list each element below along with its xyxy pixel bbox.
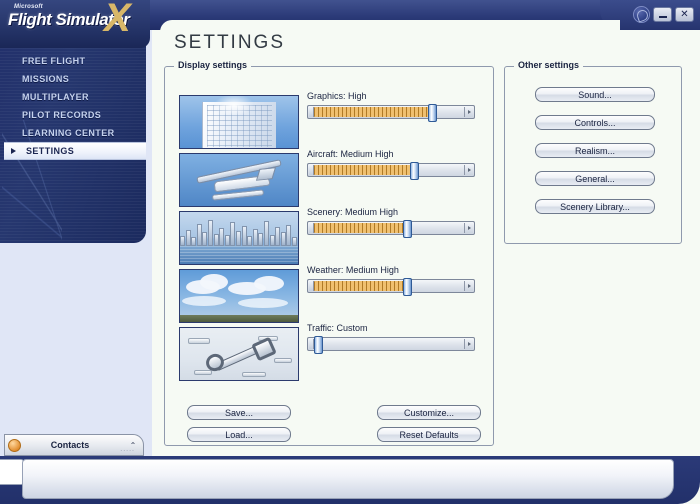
thumb-water bbox=[180, 246, 299, 264]
other-settings-group: Other settings Sound... Controls... Real… bbox=[504, 66, 682, 244]
slider-right-arrow-icon[interactable] bbox=[464, 165, 473, 175]
sidebar-item-learning-center[interactable]: LEARNING CENTER bbox=[0, 124, 146, 142]
other-settings-legend: Other settings bbox=[514, 60, 583, 70]
msn-butterfly-icon[interactable] bbox=[633, 6, 650, 23]
sidebar-item-label: MULTIPLAYER bbox=[22, 92, 89, 102]
skyline-building bbox=[275, 227, 280, 246]
slider-thumb-scenery[interactable] bbox=[403, 220, 412, 238]
slider-left-endcap bbox=[309, 281, 314, 291]
skyline-building bbox=[270, 235, 275, 246]
slider-row-traffic: Traffic: Custom bbox=[307, 323, 479, 351]
wrench-head bbox=[251, 337, 277, 362]
skyline-building bbox=[292, 237, 297, 246]
sidebar-item-multiplayer[interactable]: MULTIPLAYER bbox=[0, 88, 146, 106]
city-skyline-thumbnail bbox=[179, 211, 299, 265]
content-area: SETTINGS Display settings bbox=[152, 30, 700, 462]
flight-simulator-app: ✕ Microsoft Flight Simulator X HOMEFREE … bbox=[0, 0, 700, 504]
display-settings-group: Display settings bbox=[164, 66, 494, 446]
thumb-cloud bbox=[200, 274, 228, 290]
minimize-button[interactable] bbox=[653, 7, 672, 22]
slider-fill bbox=[314, 165, 412, 175]
thumb-cloud bbox=[238, 298, 288, 308]
sidebar-item-label: PILOT RECORDS bbox=[22, 110, 101, 120]
thumb-cloud bbox=[254, 276, 284, 291]
slider-left-endcap bbox=[309, 107, 314, 117]
bottom-left-tab bbox=[0, 459, 24, 485]
general-button[interactable]: General... bbox=[535, 171, 655, 186]
skyline-building bbox=[247, 236, 252, 246]
thumb-ground bbox=[180, 315, 299, 322]
skyline-building bbox=[242, 226, 247, 246]
sidebar-item-label: SETTINGS bbox=[26, 146, 74, 156]
slider-right-arrow-icon[interactable] bbox=[464, 107, 473, 117]
skyline-building bbox=[264, 221, 269, 246]
sidebar-item-missions[interactable]: MISSIONS bbox=[0, 70, 146, 88]
close-icon: ✕ bbox=[680, 10, 688, 20]
slider-right-arrow-icon[interactable] bbox=[464, 339, 473, 349]
slider-aircraft[interactable] bbox=[307, 163, 475, 177]
slider-fill bbox=[314, 281, 405, 291]
slider-thumb-aircraft[interactable] bbox=[410, 162, 419, 180]
slider-row-graphics: Graphics: High bbox=[307, 91, 479, 119]
thumb-mini-plane bbox=[242, 372, 266, 377]
slider-row-scenery: Scenery: Medium High bbox=[307, 207, 479, 235]
thumb-cloud bbox=[182, 296, 226, 306]
slider-thumb-graphics[interactable] bbox=[428, 104, 437, 122]
sidebar-nav: HOMEFREE FLIGHTMISSIONSMULTIPLAYERPILOT … bbox=[0, 34, 146, 160]
skyline-building bbox=[298, 230, 299, 246]
skyline-building bbox=[236, 231, 241, 246]
sidebar-item-label: MISSIONS bbox=[22, 74, 69, 84]
slider-fill bbox=[314, 107, 430, 117]
slider-traffic[interactable] bbox=[307, 337, 475, 351]
skyline-building bbox=[230, 222, 235, 246]
sidebar-item-label: LEARNING CENTER bbox=[22, 128, 115, 138]
skyline-building bbox=[258, 233, 263, 246]
slider-scenery[interactable] bbox=[307, 221, 475, 235]
slider-row-weather: Weather: Medium High bbox=[307, 265, 479, 293]
skyline-building bbox=[281, 232, 286, 246]
sidebar-item-settings[interactable]: SETTINGS bbox=[4, 142, 146, 160]
save-button[interactable]: Save... bbox=[187, 405, 291, 420]
slider-label-graphics: Graphics: High bbox=[307, 91, 479, 101]
skyline-building bbox=[225, 235, 230, 246]
bottom-bar-inner bbox=[22, 459, 674, 499]
contacts-label: Contacts bbox=[13, 440, 127, 450]
customize-button[interactable]: Customize... bbox=[377, 405, 481, 420]
thumb-skyline bbox=[180, 220, 299, 246]
slider-right-arrow-icon[interactable] bbox=[464, 223, 473, 233]
slider-fill bbox=[314, 223, 405, 233]
load-button[interactable]: Load... bbox=[187, 427, 291, 442]
skyscraper-thumbnail bbox=[179, 95, 299, 149]
skyline-building bbox=[186, 230, 191, 246]
sidebar-item-label: FREE FLIGHT bbox=[22, 56, 85, 66]
display-settings-legend: Display settings bbox=[174, 60, 251, 70]
slider-weather[interactable] bbox=[307, 279, 475, 293]
logo-x-glyph: X bbox=[104, 0, 131, 38]
slider-left-endcap bbox=[309, 223, 314, 233]
bottom-bar bbox=[0, 456, 700, 504]
skyline-building bbox=[214, 234, 219, 246]
realism-button[interactable]: Realism... bbox=[535, 143, 655, 158]
contacts-panel[interactable]: Contacts ⌃ ..... bbox=[4, 434, 144, 456]
controls-button[interactable]: Controls... bbox=[535, 115, 655, 130]
page-title: SETTINGS bbox=[174, 32, 285, 54]
skyline-building bbox=[208, 220, 213, 246]
app-logo: Microsoft Flight Simulator X bbox=[0, 0, 160, 48]
clouds-thumbnail bbox=[179, 269, 299, 323]
slider-left-endcap bbox=[309, 165, 314, 175]
skyline-building bbox=[202, 232, 207, 246]
slider-label-aircraft: Aircraft: Medium High bbox=[307, 149, 479, 159]
thumb-wrench-icon bbox=[204, 338, 278, 372]
slider-row-aircraft: Aircraft: Medium High bbox=[307, 149, 479, 177]
skyline-building bbox=[197, 224, 202, 246]
skyline-building bbox=[180, 236, 185, 246]
scenery-library-button[interactable]: Scenery Library... bbox=[535, 199, 655, 214]
thumb-sun-glow bbox=[214, 95, 254, 116]
reset-defaults-button[interactable]: Reset Defaults bbox=[377, 427, 481, 442]
sidebar-item-pilot-records[interactable]: PILOT RECORDS bbox=[0, 106, 146, 124]
slider-label-traffic: Traffic: Custom bbox=[307, 323, 479, 333]
slider-right-arrow-icon[interactable] bbox=[464, 281, 473, 291]
skyline-building bbox=[191, 237, 196, 246]
wrench-airplanes-thumbnail bbox=[179, 327, 299, 381]
wrench-ring bbox=[203, 351, 226, 374]
slider-label-weather: Weather: Medium High bbox=[307, 265, 479, 275]
window-controls: ✕ bbox=[633, 6, 694, 23]
slider-thumb-weather[interactable] bbox=[403, 278, 412, 296]
sidebar: HOMEFREE FLIGHTMISSIONSMULTIPLAYERPILOT … bbox=[0, 30, 152, 462]
slider-thumb-traffic[interactable] bbox=[314, 336, 323, 354]
seaplane-thumbnail bbox=[179, 153, 299, 207]
skyline-building bbox=[219, 228, 224, 246]
slider-label-scenery: Scenery: Medium High bbox=[307, 207, 479, 217]
sidebar-item-free-flight[interactable]: FREE FLIGHT bbox=[0, 52, 146, 70]
skyline-building bbox=[286, 225, 291, 246]
sound-button[interactable]: Sound... bbox=[535, 87, 655, 102]
slider-graphics[interactable] bbox=[307, 105, 475, 119]
skyline-building bbox=[253, 229, 258, 246]
contacts-grip: ..... bbox=[120, 446, 135, 453]
close-button[interactable]: ✕ bbox=[675, 7, 694, 22]
minimize-icon bbox=[659, 16, 667, 18]
